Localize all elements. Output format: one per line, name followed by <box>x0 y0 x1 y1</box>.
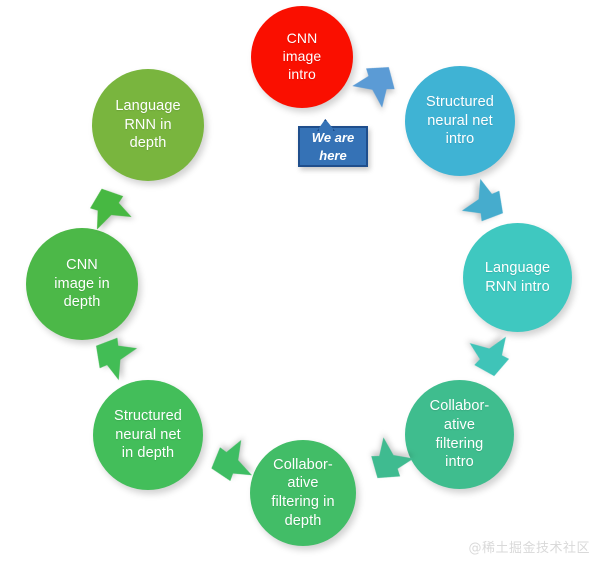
node-language-rnn-intro[interactable]: Language RNN intro <box>463 223 572 332</box>
node-cnn-image-intro[interactable]: CNN image intro <box>251 6 353 108</box>
node-structured-neural-net-intro[interactable]: Structured neural net intro <box>405 66 515 176</box>
arrow-cnn-intro-to-structured-intro <box>350 54 406 110</box>
we-are-here-callout[interactable]: We are here <box>298 126 368 167</box>
watermark: @稀土掘金技术社区 <box>468 537 590 556</box>
callout-text: We are here <box>312 129 354 164</box>
node-label: Collabor- ative filtering in depth <box>271 456 334 530</box>
node-structured-neural-net-in-depth[interactable]: Structured neural net in depth <box>93 380 203 490</box>
arrow-collab-in-depth-to-structured-in-depth <box>204 438 254 488</box>
node-label: Structured neural net intro <box>426 93 494 149</box>
node-label: Structured neural net in depth <box>114 407 182 463</box>
callout-tail <box>317 119 335 131</box>
node-collaborative-filtering-in-depth[interactable]: Collabor- ative filtering in depth <box>250 440 356 546</box>
node-label: Collabor- ative filtering intro <box>430 397 490 471</box>
node-label: CNN image in depth <box>54 256 110 312</box>
node-label: Language RNN in depth <box>115 97 180 153</box>
arrow-cnn-in-depth-to-language-in-depth <box>82 180 133 231</box>
node-cnn-image-in-depth[interactable]: CNN image in depth <box>26 228 138 340</box>
node-collaborative-filtering-intro[interactable]: Collabor- ative filtering intro <box>405 380 514 489</box>
cycle-diagram-canvas: CNN image intro Structured neural net in… <box>0 0 600 564</box>
arrow-language-intro-to-collab-intro <box>468 335 514 381</box>
node-label: Language RNN intro <box>485 259 550 296</box>
node-label: CNN image intro <box>283 30 322 84</box>
